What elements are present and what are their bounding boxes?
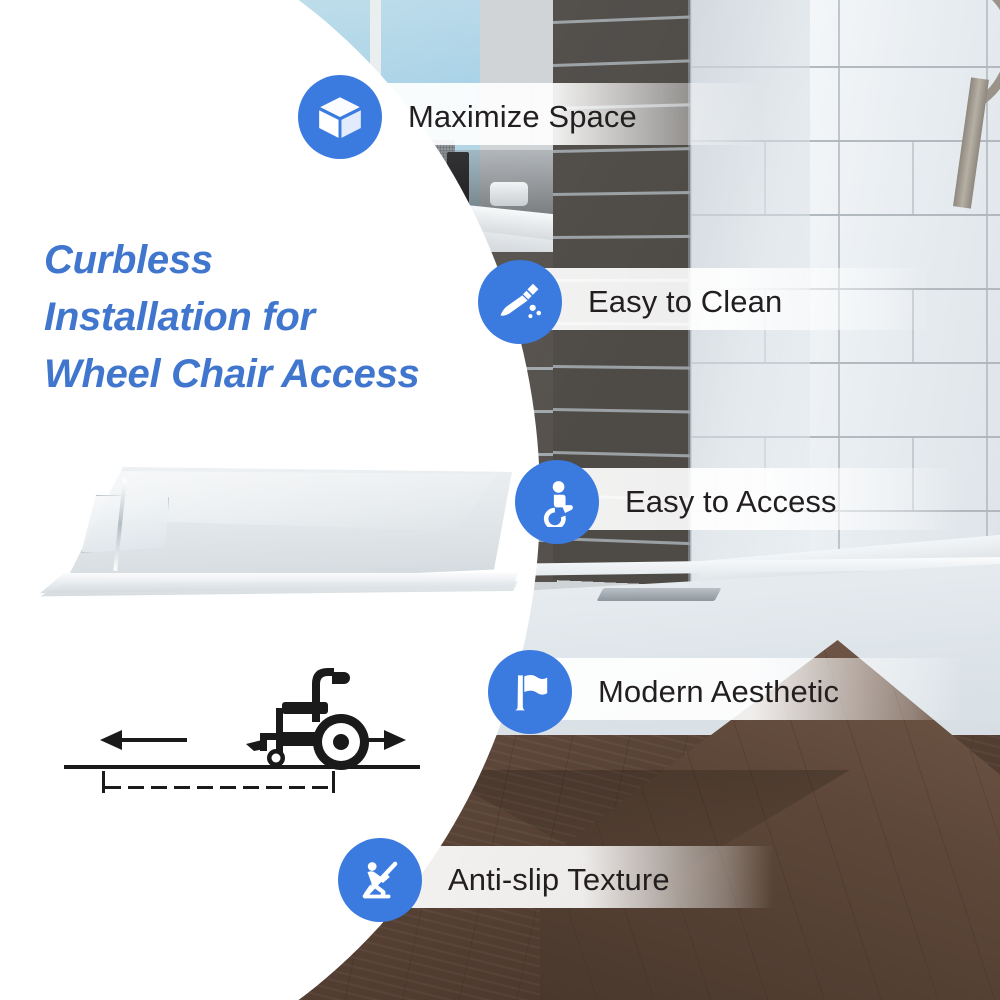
feature-label: Maximize Space [408, 99, 637, 135]
headline-line-2: Installation for [44, 289, 474, 346]
no-slip-icon [338, 838, 422, 922]
feature-label: Anti-slip Texture [448, 862, 670, 898]
wheelchair-side-view [246, 668, 369, 770]
wheelchair-clearance-diagram [60, 650, 460, 815]
box-3d-icon [298, 75, 382, 159]
flag-icon [488, 650, 572, 734]
infographic-canvas: Curbless Installation for Wheel Chair Ac… [0, 0, 1000, 1000]
feature-item-easy-to-clean[interactable]: Easy to Clean [478, 260, 782, 344]
feature-label: Modern Aesthetic [598, 674, 839, 710]
headline-line-1: Curbless [44, 232, 474, 289]
feature-item-modern-aesthetic[interactable]: Modern Aesthetic [488, 650, 839, 734]
wheelchair-accessible-icon [515, 460, 599, 544]
left-arrow [100, 730, 187, 750]
page-title: Curbless Installation for Wheel Chair Ac… [44, 232, 474, 402]
shower-base-bottom-edge [40, 581, 518, 603]
headline-line-3: Wheel Chair Access [44, 346, 474, 403]
dashed-clearance-line [102, 771, 335, 793]
feature-label: Easy to Clean [588, 284, 782, 320]
floor-level-line [64, 765, 420, 769]
shower-base-drain-cover [81, 495, 169, 553]
feature-item-anti-slip-texture[interactable]: Anti-slip Texture [338, 838, 670, 922]
feature-item-maximize-space[interactable]: Maximize Space [298, 75, 637, 159]
feature-label: Easy to Access [625, 484, 837, 520]
broom-icon [478, 260, 562, 344]
feature-item-easy-to-access[interactable]: Easy to Access [515, 460, 837, 544]
product-shower-base-image [18, 455, 518, 625]
